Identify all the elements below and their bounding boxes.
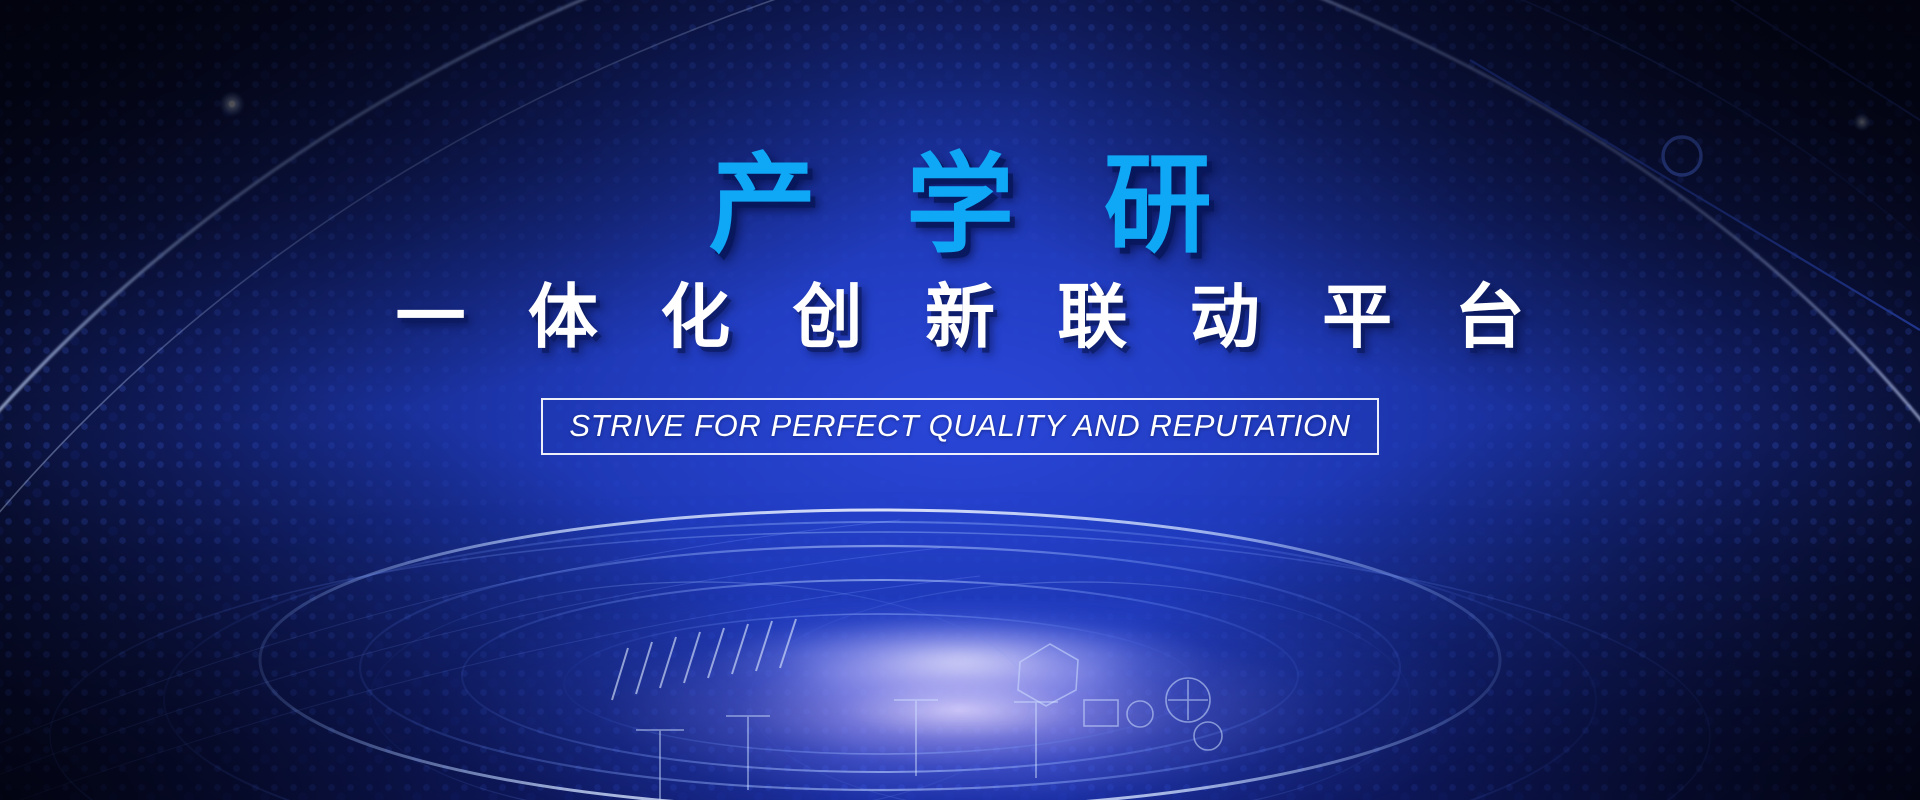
page-title: 产 学 研	[682, 146, 1237, 267]
tagline-box: STRIVE FOR PERFECT QUALITY AND REPUTATIO…	[541, 398, 1378, 455]
hero-banner: 产 学 研 一 体 化 创 新 联 动 平 台 STRIVE FOR PERFE…	[0, 0, 1920, 800]
english-tagline: STRIVE FOR PERFECT QUALITY AND REPUTATIO…	[569, 410, 1350, 441]
banner-content: 产 学 研 一 体 化 创 新 联 动 平 台 STRIVE FOR PERFE…	[0, 0, 1920, 800]
page-subtitle: 一 体 化 创 新 联 动 平 台	[377, 277, 1544, 358]
